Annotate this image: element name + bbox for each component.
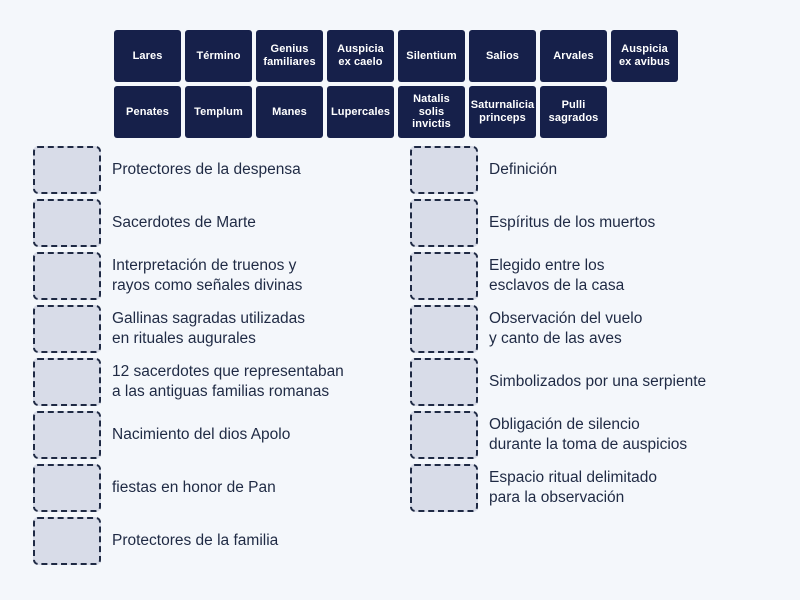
draggable-tile[interactable]: Arvales (540, 30, 607, 82)
tile-bank: LaresTérminoGenius familiaresAuspicia ex… (114, 30, 688, 138)
answer-row: Interpretación de truenos y rayos como s… (33, 252, 393, 300)
drop-zone[interactable] (33, 358, 101, 406)
drop-zone[interactable] (33, 464, 101, 512)
answer-row: Nacimiento del dios Apolo (33, 411, 393, 459)
answer-text: Espíritus de los muertos (478, 213, 655, 233)
answer-row: Simbolizados por una serpiente (410, 358, 780, 406)
answer-text: Interpretación de truenos y rayos como s… (101, 256, 302, 295)
drop-zone[interactable] (33, 146, 101, 194)
answer-text: Definición (478, 160, 557, 180)
draggable-tile[interactable]: Genius familiares (256, 30, 323, 82)
draggable-tile[interactable]: Manes (256, 86, 323, 138)
drop-zone[interactable] (33, 411, 101, 459)
answer-row: Gallinas sagradas utilizadas en rituales… (33, 305, 393, 353)
drop-zone[interactable] (33, 252, 101, 300)
answer-row: Definición (410, 146, 780, 194)
draggable-tile[interactable]: Templum (185, 86, 252, 138)
drop-zone[interactable] (33, 199, 101, 247)
drop-zone[interactable] (410, 252, 478, 300)
answer-text: Simbolizados por una serpiente (478, 372, 706, 392)
answer-text: Observación del vuelo y canto de las ave… (478, 309, 642, 348)
draggable-tile[interactable]: Lares (114, 30, 181, 82)
answer-row: Observación del vuelo y canto de las ave… (410, 305, 780, 353)
drop-zone[interactable] (410, 358, 478, 406)
answer-text: Espacio ritual delimitado para la observ… (478, 468, 657, 507)
answer-text: Protectores de la despensa (101, 160, 301, 180)
answer-text: 12 sacerdotes que representaban a las an… (101, 362, 344, 401)
answer-text: fiestas en honor de Pan (101, 478, 276, 498)
drop-zone[interactable] (33, 517, 101, 565)
draggable-tile[interactable]: Lupercales (327, 86, 394, 138)
answer-row: Elegido entre los esclavos de la casa (410, 252, 780, 300)
drop-zone[interactable] (410, 146, 478, 194)
draggable-tile[interactable]: Salios (469, 30, 536, 82)
answer-text: Sacerdotes de Marte (101, 213, 256, 233)
answer-row: fiestas en honor de Pan (33, 464, 393, 512)
draggable-tile[interactable]: Silentium (398, 30, 465, 82)
draggable-tile[interactable]: Natalis solis invictis (398, 86, 465, 138)
answer-text: Obligación de silencio durante la toma d… (478, 415, 687, 454)
drop-zone[interactable] (410, 464, 478, 512)
drop-zone[interactable] (410, 305, 478, 353)
draggable-tile[interactable]: Auspicia ex caelo (327, 30, 394, 82)
answer-row: Espacio ritual delimitado para la observ… (410, 464, 780, 512)
draggable-tile[interactable]: Penates (114, 86, 181, 138)
answer-text: Nacimiento del dios Apolo (101, 425, 290, 445)
drop-zone[interactable] (410, 199, 478, 247)
drop-zone[interactable] (410, 411, 478, 459)
answer-column-left: Protectores de la despensaSacerdotes de … (33, 146, 393, 565)
draggable-tile[interactable]: Pulli sagrados (540, 86, 607, 138)
answer-row: 12 sacerdotes que representaban a las an… (33, 358, 393, 406)
answer-row: Sacerdotes de Marte (33, 199, 393, 247)
answer-row: Espíritus de los muertos (410, 199, 780, 247)
answer-text: Gallinas sagradas utilizadas en rituales… (101, 309, 305, 348)
answer-row: Protectores de la despensa (33, 146, 393, 194)
draggable-tile[interactable]: Auspicia ex avibus (611, 30, 678, 82)
draggable-tile[interactable]: Término (185, 30, 252, 82)
answer-text: Protectores de la familia (101, 531, 278, 551)
answer-text: Elegido entre los esclavos de la casa (478, 256, 624, 295)
drop-zone[interactable] (33, 305, 101, 353)
answer-row: Protectores de la familia (33, 517, 393, 565)
answer-row: Obligación de silencio durante la toma d… (410, 411, 780, 459)
answer-column-right: DefiniciónEspíritus de los muertosElegid… (410, 146, 780, 512)
draggable-tile[interactable]: Saturnalicia princeps (469, 86, 536, 138)
